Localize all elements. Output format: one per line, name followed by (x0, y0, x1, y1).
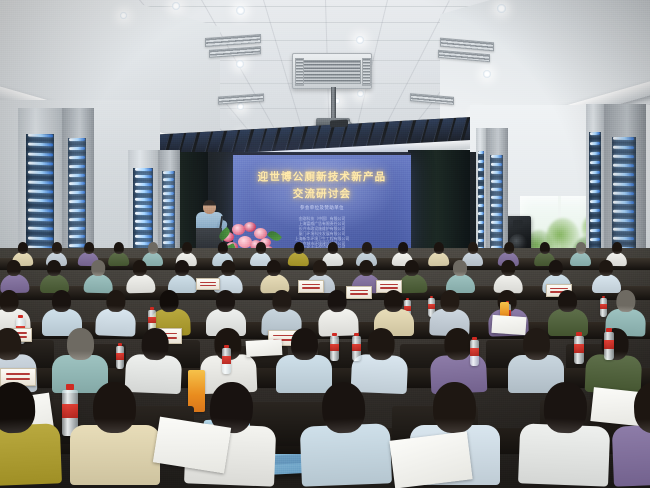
column-light-bar (478, 168, 484, 171)
attendee-head (321, 381, 366, 433)
column-light-bar (491, 213, 502, 216)
attendee-head (84, 242, 94, 254)
attendee-head (182, 242, 192, 254)
name-card-text-line (380, 287, 397, 289)
column-light-bar (613, 146, 634, 149)
delegate-name-card (196, 278, 220, 290)
attendee (610, 380, 650, 485)
attendee (126, 260, 155, 293)
attendee-head (52, 242, 62, 254)
column-light-bar (28, 152, 53, 156)
name-card-text-line (302, 287, 319, 289)
name-card-text-line (200, 285, 216, 287)
column-light-bar (28, 227, 53, 231)
attendee-head (294, 242, 304, 254)
water-bottle (470, 340, 479, 366)
column-light-bar (163, 234, 174, 237)
attendee (84, 260, 113, 293)
column-light-bar (163, 227, 174, 230)
column-light-bar (163, 192, 174, 195)
column-light-bar (135, 212, 152, 215)
column-light-bar (69, 235, 85, 238)
water-bottle (604, 332, 614, 360)
column-light-bar (135, 175, 152, 178)
column-light-bar (135, 197, 152, 200)
bottle-cap (472, 337, 477, 341)
column-light-bar (478, 186, 484, 189)
column-light-bar (491, 171, 502, 174)
water-bottle (330, 336, 339, 361)
column-light-bar (28, 143, 53, 147)
attendee-head (453, 260, 467, 276)
column-light-bar (163, 206, 174, 209)
attendee-head (362, 242, 372, 254)
column-light-bar (613, 164, 634, 167)
column-light-bar (613, 182, 634, 185)
handout-paper (246, 339, 283, 357)
attendee-head (93, 382, 136, 433)
attendee-head (0, 290, 19, 313)
attendee-head (539, 242, 549, 254)
attendee-head (359, 260, 373, 276)
bottle-cap (602, 296, 606, 299)
column-light-bar (69, 200, 85, 203)
column-light-bar (163, 199, 174, 202)
column-light-bar (613, 191, 634, 194)
column-light-bar (69, 182, 85, 185)
column-light-bar (163, 213, 174, 216)
column-light-bar (491, 229, 502, 232)
attendee-head (216, 290, 235, 312)
column-light-bar (135, 168, 152, 171)
column-light-bar (69, 164, 85, 167)
bottle-cap (354, 333, 359, 337)
bottle-label (574, 344, 584, 352)
column-light-bar (590, 171, 600, 174)
column-light-bar (491, 204, 502, 207)
attendee-head (398, 242, 408, 254)
handout-paper (153, 417, 231, 474)
attendee (0, 260, 29, 293)
name-card-text-line (200, 282, 216, 284)
column-light-bar (491, 188, 502, 191)
attendee (592, 260, 621, 292)
bottle-cap (606, 328, 612, 332)
bottle-label (470, 348, 479, 356)
column-light-bar (28, 208, 53, 212)
column-light-bar (69, 209, 85, 212)
column-light-bar (69, 173, 85, 176)
attendee (0, 380, 62, 485)
attendee-torso (570, 252, 591, 266)
attendee-head (313, 260, 327, 276)
attendee-head (576, 242, 586, 254)
column-light-bar (478, 195, 484, 198)
attendee-head (91, 260, 105, 276)
attendee-head (175, 260, 189, 276)
attendee (260, 260, 289, 293)
bottle-cap (118, 343, 122, 346)
attendee-head (67, 328, 94, 360)
bottle-label (148, 317, 156, 324)
attendee (298, 380, 392, 485)
attendee-head (367, 327, 395, 360)
column-light-bar (590, 200, 600, 203)
column-light-bar (28, 190, 53, 194)
name-card-text-line (380, 284, 397, 286)
column-light-bar (478, 230, 484, 233)
attendee (570, 242, 591, 266)
attendee-head (217, 242, 227, 254)
column-light-bar (613, 228, 634, 231)
water-bottle (352, 336, 361, 361)
attendee-head (221, 260, 235, 276)
column-light-bar (590, 151, 600, 154)
attendee-head (433, 382, 476, 433)
column-light-bar (478, 177, 484, 180)
column-light-bar (613, 219, 634, 222)
attendee (40, 260, 69, 292)
attendee-head (612, 242, 622, 254)
bottle-label (116, 353, 124, 360)
bottle-cap (576, 332, 582, 336)
attendee-torso (70, 425, 160, 486)
name-card-text-line (302, 284, 319, 286)
bottle-label (222, 356, 231, 364)
bottle-label (352, 344, 361, 352)
attendee-head (267, 260, 281, 276)
column-light-bar (491, 163, 502, 166)
column-light-bar (613, 155, 634, 158)
column-light-bar (590, 132, 600, 135)
bottle-label (330, 344, 339, 352)
attendee-head (148, 242, 158, 254)
attendee (494, 260, 523, 293)
attendee-head (160, 290, 180, 313)
column-light-bar (478, 203, 484, 206)
attendee-head (133, 260, 147, 276)
attendee-head (468, 242, 478, 254)
attendee-head (256, 242, 266, 254)
attendee-head (328, 290, 348, 313)
attendee-head (501, 260, 515, 276)
attendee (446, 260, 475, 292)
bottle-cap (150, 307, 154, 310)
column-light-bar (590, 209, 600, 212)
water-bottle (116, 346, 124, 369)
handout-paper (389, 431, 472, 488)
audience-people (0, 240, 650, 488)
attendee-head (599, 260, 613, 276)
attendee-head (558, 290, 577, 312)
attendee-head (7, 260, 21, 276)
column-light-bar (135, 190, 152, 193)
column-light-bar (28, 199, 53, 203)
attendee-torso (612, 423, 650, 487)
attendee-head (0, 381, 36, 433)
attendee-head (0, 327, 22, 360)
bottle-cap (224, 345, 229, 349)
water-bottle (574, 336, 584, 364)
attendee-head (433, 242, 443, 254)
column-light-bar (478, 151, 484, 154)
column-light-bar (590, 219, 600, 222)
column-light-bar (613, 210, 634, 213)
conference-photo: 迎世博公厕新技术新产品 交流研讨会 参会单位及赞助单位 金刚科技（中国）有限公司… (0, 0, 650, 488)
column-light-bar (163, 185, 174, 188)
column-light-bar (478, 221, 484, 224)
column-light-bar (163, 178, 174, 181)
column-light-bar (590, 180, 600, 183)
bottle-cap (18, 315, 23, 319)
attendee-head (327, 242, 337, 254)
attendee-head (141, 327, 169, 360)
attendee-head (543, 381, 588, 433)
column-light-bar (135, 183, 152, 186)
column-light-bar (69, 226, 85, 229)
attendee-head (47, 260, 61, 276)
column-light-bar (491, 155, 502, 158)
column-light-bar (491, 179, 502, 182)
attendee-head (17, 242, 27, 254)
column-light-bar (613, 137, 634, 140)
attendee-head (504, 242, 514, 254)
column-light-bar (613, 201, 634, 204)
attendee-head (405, 260, 419, 276)
column-light-bar (590, 190, 600, 193)
column-light-bar (135, 220, 152, 223)
column-light-bar (28, 180, 53, 184)
bottle-cap (332, 333, 337, 337)
attendee-head (291, 328, 318, 360)
attendee-head (384, 290, 403, 312)
column-light-bar (590, 229, 600, 232)
attendee (168, 260, 197, 292)
column-light-bar (28, 171, 53, 175)
column-light-bar (613, 173, 634, 176)
attendee-head (523, 328, 550, 360)
bottle-label (604, 340, 614, 348)
column-light-bar (135, 227, 152, 230)
attendee (70, 382, 160, 483)
attendee-head (549, 260, 563, 276)
column-light-bar (491, 221, 502, 224)
name-card-text-line (6, 373, 31, 375)
column-light-bar (163, 171, 174, 174)
column-light-bar (491, 196, 502, 199)
attendee (518, 380, 612, 485)
column-light-bar (28, 161, 53, 165)
column-light-bar (478, 212, 484, 215)
column-light-bar (590, 142, 600, 145)
column-light-bar (69, 191, 85, 194)
column-light-bar (478, 160, 484, 163)
column-light-bar (69, 138, 85, 141)
column-light-bar (28, 218, 53, 222)
column-light-bar (135, 205, 152, 208)
column-light-bar (135, 234, 152, 237)
column-light-bar (590, 161, 600, 164)
column-light-bar (69, 156, 85, 159)
column-light-bar (69, 218, 85, 221)
column-light-bar (163, 220, 174, 223)
column-light-bar (28, 134, 53, 137)
attendee-head (113, 242, 123, 254)
attendee-head (52, 290, 71, 312)
water-bottle (222, 348, 231, 374)
column-light-bar (69, 147, 85, 150)
name-card-text-line (6, 378, 31, 380)
attendee-head (443, 327, 471, 360)
